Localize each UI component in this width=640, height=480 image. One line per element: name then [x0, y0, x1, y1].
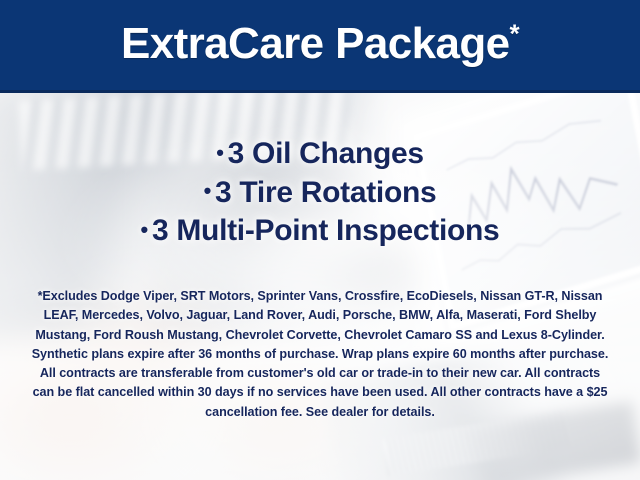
- page-title-asterisk: *: [509, 18, 519, 48]
- bullet-icon: •: [216, 140, 223, 165]
- benefit-item-oil-changes: •3 Oil Changes: [0, 135, 640, 174]
- page-title: ExtraCare Package*: [121, 22, 519, 66]
- benefit-item-multi-point-inspections: •3 Multi-Point Inspections: [0, 212, 640, 251]
- bullet-icon: •: [141, 217, 148, 242]
- benefits-list: •3 Oil Changes •3 Tire Rotations •3 Mult…: [0, 135, 640, 251]
- header-band: ExtraCare Package*: [0, 0, 640, 93]
- benefit-item-label: 3 Multi-Point Inspections: [152, 214, 500, 247]
- bullet-icon: •: [204, 178, 211, 203]
- page-title-text: ExtraCare Package: [121, 19, 510, 68]
- extracare-package-poster: ExtraCare Package* •3 Oil Changes •3 Tir…: [0, 0, 640, 480]
- benefit-item-label: 3 Tire Rotations: [215, 176, 436, 209]
- disclaimer-text: *Excludes Dodge Viper, SRT Motors, Sprin…: [28, 287, 612, 422]
- benefit-item-tire-rotations: •3 Tire Rotations: [0, 174, 640, 213]
- benefit-item-label: 3 Oil Changes: [228, 137, 424, 170]
